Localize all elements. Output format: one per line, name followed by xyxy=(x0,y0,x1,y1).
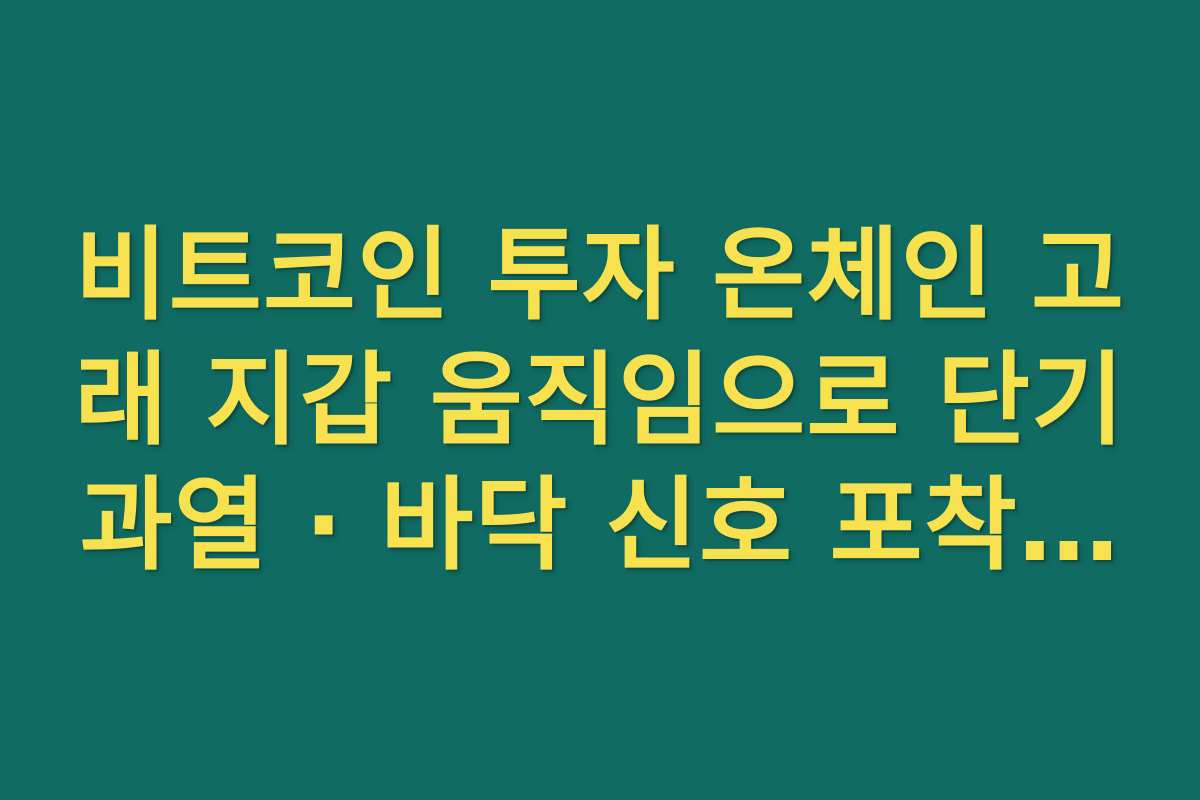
headline-line-2: 래 지갑 움직임으로 단기 xyxy=(70,338,1130,463)
headline-text-block: 비트코인 투자 온체인 고 래 지갑 움직임으로 단기 과열 · 바닥 신호 포… xyxy=(70,213,1130,588)
headline-line-1: 비트코인 투자 온체인 고 xyxy=(70,213,1130,338)
thumbnail-canvas: 비트코인 투자 온체인 고 래 지갑 움직임으로 단기 과열 · 바닥 신호 포… xyxy=(0,0,1200,800)
headline-line-3: 과열 · 바닥 신호 포착… xyxy=(70,463,1130,588)
